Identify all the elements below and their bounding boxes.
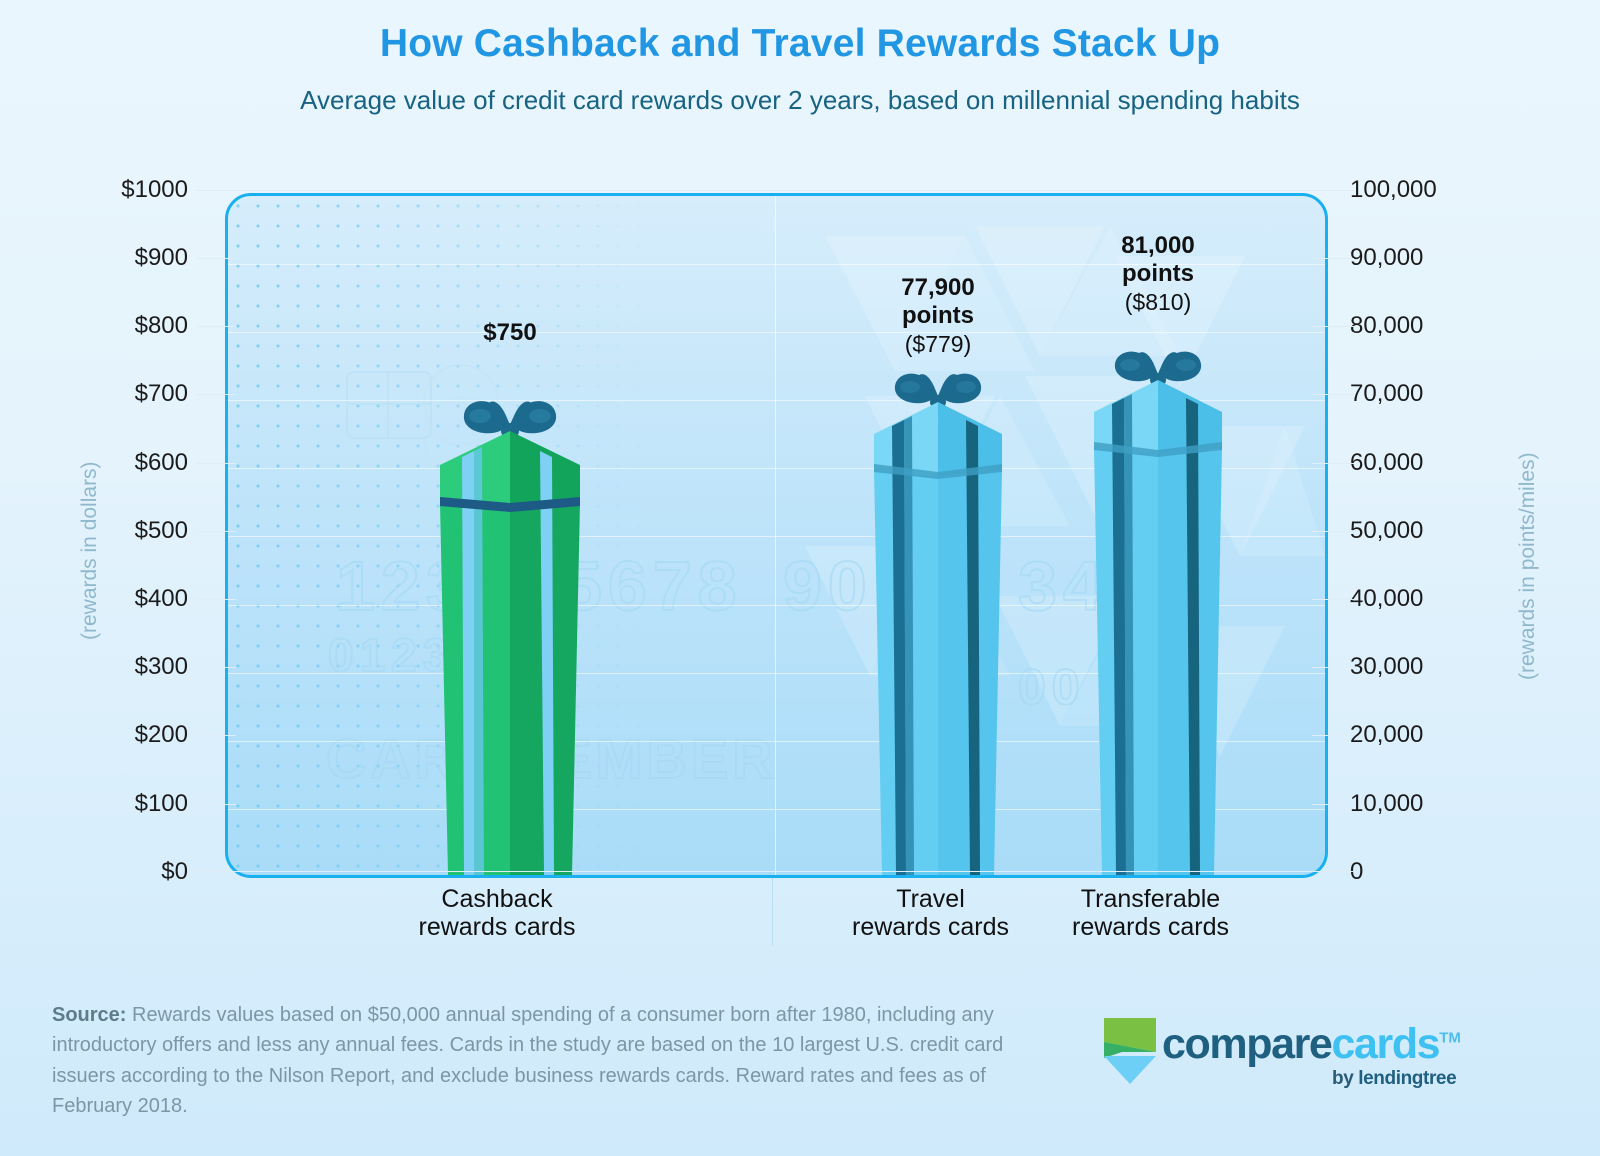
xlabel-transferable-line2: rewards cards: [1072, 913, 1229, 941]
ytick-left-0: $0: [161, 858, 188, 886]
page-subtitle: Average value of credit card rewards ove…: [0, 85, 1600, 116]
ytick-right-30000: 30,000: [1350, 653, 1423, 681]
logo-tm: TM: [1439, 1030, 1461, 1047]
xlabel-cashback: Cashback rewards cards: [382, 885, 612, 941]
bar-label-travel-points: 77,900: [858, 274, 1018, 302]
group-divider-extension: [772, 878, 773, 946]
bar-label-transferable: 81,000 points ($810): [1078, 232, 1238, 316]
comparecards-logo[interactable]: comparecardsTM by lendingtree: [1102, 1012, 1502, 1092]
logo-compare: compare: [1162, 1020, 1331, 1068]
xlabel-transferable-line1: Transferable: [1081, 885, 1220, 913]
tickstub-0: [196, 871, 1354, 872]
xlabel-cashback-line2: rewards cards: [419, 913, 576, 941]
tickstub-r-50000: [1312, 531, 1354, 532]
ytick-right-70000: 70,000: [1350, 380, 1423, 408]
ytick-right-60000: 60,000: [1350, 449, 1423, 477]
group-divider: [775, 196, 776, 875]
tickstub-r-40000: [1312, 599, 1354, 600]
left-axis-title: (rewards in dollars): [78, 461, 102, 640]
source-text: Rewards values based on $50,000 annual s…: [52, 1004, 1003, 1117]
ytick-left-900: $900: [135, 244, 188, 272]
logo-byline: by lendingtree: [1332, 1068, 1456, 1090]
bar-transferable[interactable]: [1094, 342, 1222, 875]
ytick-left-800: $800: [135, 312, 188, 340]
tickstub-500: [196, 531, 236, 532]
bar-travel[interactable]: [874, 364, 1002, 875]
bar-label-cashback: $750: [435, 319, 585, 347]
xlabel-travel: Travel rewards cards: [818, 885, 1043, 941]
ytick-left-400: $400: [135, 585, 188, 613]
infographic-root: How Cashback and Travel Rewards Stack Up…: [0, 0, 1600, 1156]
bar-label-transferable-unit: points: [1078, 260, 1238, 288]
logo-lendingtree: lendingtree: [1358, 1068, 1456, 1089]
tickstub-200: [196, 735, 236, 736]
tickstub-r-20000: [1312, 735, 1354, 736]
ytick-right-20000: 20,000: [1350, 721, 1423, 749]
card-chip-watermark: [346, 371, 432, 439]
xlabel-transferable: Transferable rewards cards: [1038, 885, 1263, 941]
tickstub-r-90000: [1312, 258, 1354, 259]
tickstub-300: [196, 667, 236, 668]
tickstub-1000: [196, 190, 1354, 191]
bar-label-cashback-value: $750: [435, 319, 585, 347]
tickstub-800: [196, 326, 236, 327]
bar-label-transferable-dollars: ($810): [1078, 289, 1238, 316]
ytick-right-0: 0: [1350, 858, 1363, 886]
ytick-right-50000: 50,000: [1350, 517, 1423, 545]
bar-label-travel: 77,900 points ($779): [858, 274, 1018, 358]
gridline-800: [228, 332, 1325, 333]
tickstub-r-10000: [1312, 804, 1354, 805]
logo-by-text: by: [1332, 1068, 1358, 1089]
source-label: Source:: [52, 1004, 126, 1026]
chart-plot-area: 1234 5678 90 34 0123 00 CARDMEMBER: [225, 193, 1328, 878]
page-title: How Cashback and Travel Rewards Stack Up: [0, 22, 1600, 66]
lendingtree-mark-icon: [1102, 1012, 1158, 1084]
ytick-left-700: $700: [135, 380, 188, 408]
ytick-right-90000: 90,000: [1350, 244, 1423, 272]
bar-label-transferable-points: 81,000: [1078, 232, 1238, 260]
xlabel-travel-line2: rewards cards: [852, 913, 1009, 941]
xlabel-travel-line1: Travel: [896, 885, 965, 913]
bar-cashback[interactable]: [440, 391, 580, 875]
ytick-right-80000: 80,000: [1350, 312, 1423, 340]
ytick-right-40000: 40,000: [1350, 585, 1423, 613]
card-number-group-3: 90: [783, 546, 873, 626]
ytick-left-200: $200: [135, 721, 188, 749]
tickstub-900: [196, 258, 236, 259]
comparecards-wordmark: comparecardsTM: [1162, 1020, 1461, 1069]
logo-cards: cards: [1331, 1020, 1439, 1068]
tickstub-r-30000: [1312, 667, 1354, 668]
tickstub-r-60000: [1312, 463, 1354, 464]
xlabel-cashback-line1: Cashback: [441, 885, 552, 913]
tickstub-r-70000: [1312, 394, 1354, 395]
tickstub-100: [196, 804, 236, 805]
tickstub-700: [196, 394, 236, 395]
card-number-group-2: 5678: [563, 546, 743, 626]
ytick-left-300: $300: [135, 653, 188, 681]
tickstub-r-80000: [1312, 326, 1354, 327]
ytick-left-1000: $1000: [121, 176, 188, 204]
right-axis-title: (rewards in points/miles): [1516, 452, 1540, 680]
ytick-left-600: $600: [135, 449, 188, 477]
card-valid-small-watermark: 00: [1018, 658, 1086, 716]
ytick-left-500: $500: [135, 517, 188, 545]
bar-label-travel-dollars: ($779): [858, 331, 1018, 358]
ytick-right-100000: 100,000: [1350, 176, 1437, 204]
tickstub-600: [196, 463, 236, 464]
source-note: Source: Rewards values based on $50,000 …: [52, 1000, 1037, 1122]
ytick-left-100: $100: [135, 790, 188, 818]
bar-label-travel-unit: points: [858, 302, 1018, 330]
ytick-right-10000: 10,000: [1350, 790, 1423, 818]
tickstub-400: [196, 599, 236, 600]
